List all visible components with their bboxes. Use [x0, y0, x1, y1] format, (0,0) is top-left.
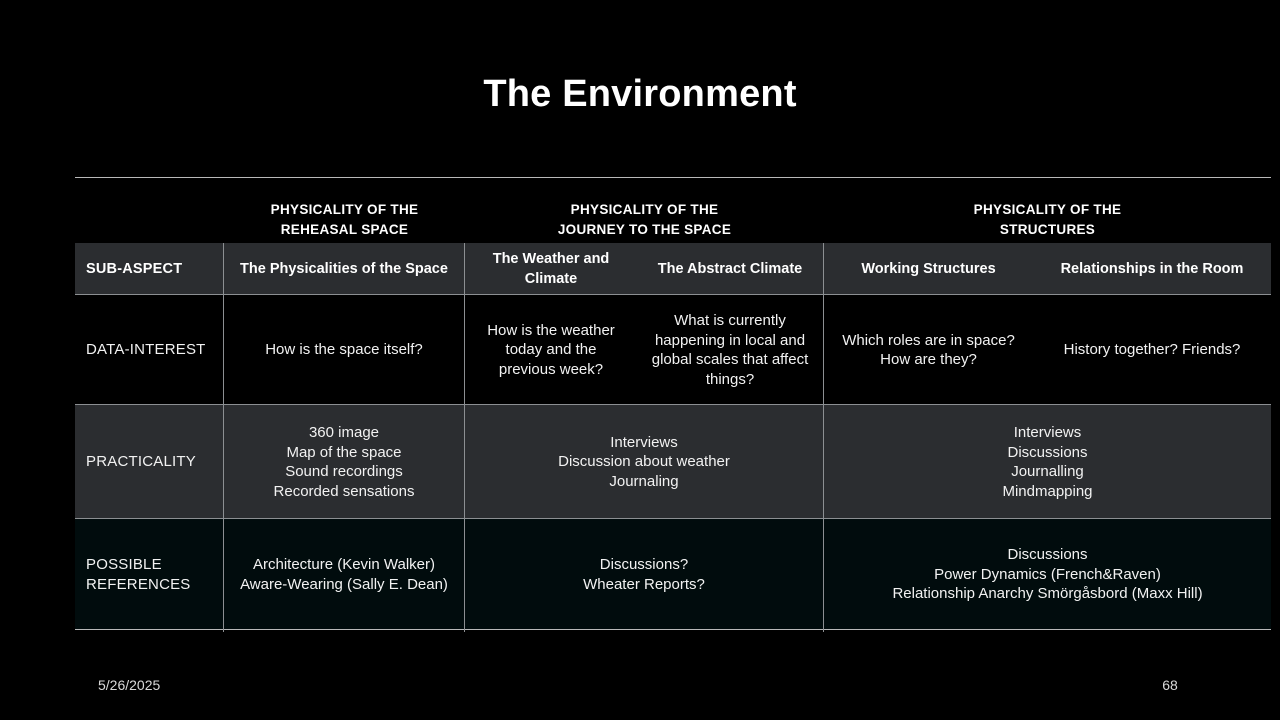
- group-header-structures: PHYSICALITY OF THE STRUCTURES: [824, 200, 1271, 240]
- footer-date: 5/26/2025: [98, 677, 160, 693]
- cell-practicality-journey: Interviews Discussion about weather Jour…: [465, 405, 823, 519]
- cell-data-interest-relationships: History together? Friends?: [1033, 295, 1271, 405]
- cell-data-interest-space: How is the space itself?: [224, 295, 464, 405]
- environment-table: PHYSICALITY OF THE REHEASAL SPACE PHYSIC…: [75, 177, 1271, 633]
- column-header-abstract-climate: The Abstract Climate: [637, 243, 823, 295]
- row-label-possible-references: POSSIBLE REFERENCES: [75, 519, 223, 630]
- page-title: The Environment: [0, 74, 1280, 116]
- cell-data-interest-weather: How is the weather today and the previou…: [465, 295, 637, 405]
- column-header-sub-aspect: SUB-ASPECT: [75, 243, 223, 295]
- column-header-weather-and-climate: The Weather and Climate: [465, 243, 637, 295]
- column-divider: [464, 243, 465, 632]
- cell-practicality-structures: Interviews Discussions Journalling Mindm…: [824, 405, 1271, 519]
- row-label-practicality: PRACTICALITY: [75, 405, 223, 519]
- cell-references-space: Architecture (Kevin Walker) Aware-Wearin…: [224, 519, 464, 630]
- column-divider: [223, 243, 224, 632]
- column-divider: [823, 243, 824, 632]
- cell-practicality-space: 360 image Map of the space Sound recordi…: [224, 405, 464, 519]
- slide-root: { "slide": { "title": "The Environment",…: [0, 0, 1280, 720]
- group-header-journey-to-space: PHYSICALITY OF THE JOURNEY TO THE SPACE: [465, 200, 824, 240]
- cell-references-structures: Discussions Power Dynamics (French&Raven…: [824, 519, 1271, 630]
- table-top-rule: [75, 177, 1271, 178]
- column-header-relationships-in-the-room: Relationships in the Room: [1033, 243, 1271, 295]
- row-label-data-interest: DATA-INTEREST: [75, 295, 223, 405]
- group-header-rehearsal-space: PHYSICALITY OF THE REHEASAL SPACE: [224, 200, 465, 240]
- cell-data-interest-working-structures: Which roles are in space? How are they?: [824, 295, 1033, 405]
- group-header-band: PHYSICALITY OF THE REHEASAL SPACE PHYSIC…: [75, 191, 1271, 243]
- footer-page-number: 68: [1140, 677, 1200, 693]
- cell-references-journey: Discussions? Wheater Reports?: [465, 519, 823, 630]
- cell-data-interest-abstract-climate: What is currently happening in local and…: [637, 295, 823, 405]
- table-grid: SUB-ASPECT The Physicalities of the Spac…: [75, 243, 1271, 632]
- column-header-working-structures: Working Structures: [824, 243, 1033, 295]
- column-header-physicalities-of-the-space: The Physicalities of the Space: [224, 243, 464, 295]
